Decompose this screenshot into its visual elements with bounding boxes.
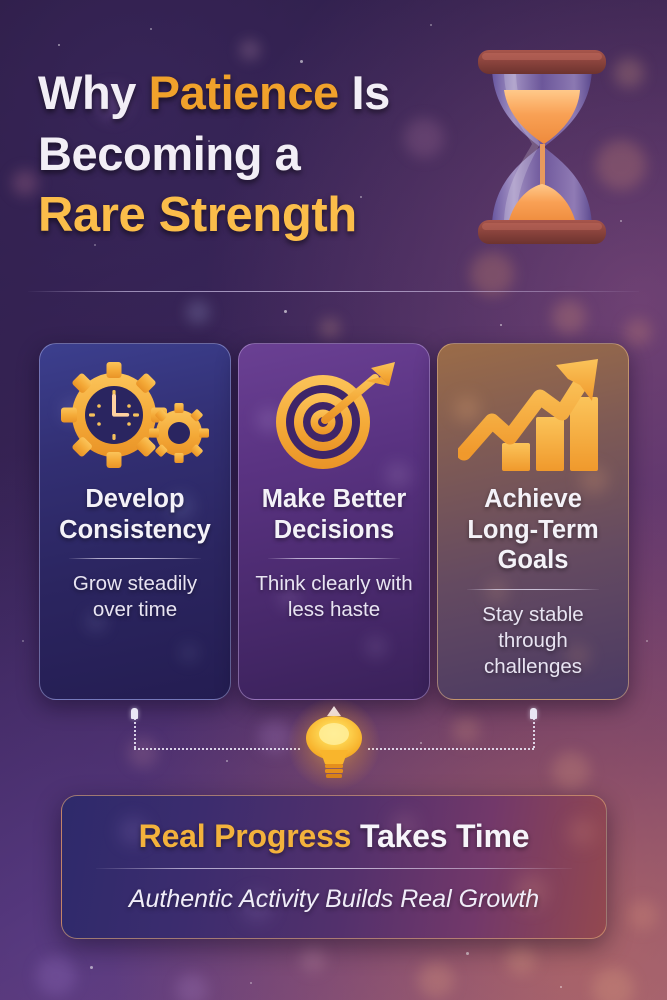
banner-title-highlight: Real Progress: [139, 818, 352, 854]
card-make-better-decisions[interactable]: Make Better Decisions Think clearly with…: [238, 343, 430, 700]
connector-line-left-vertical: [134, 718, 136, 748]
connector-line-right-horizontal: [368, 748, 534, 750]
card-achieve-long-term-goals[interactable]: Achieve Long-Term Goals Stay stable thro…: [437, 343, 629, 700]
card-title: Achieve Long-Term Goals: [450, 484, 616, 576]
title-line-1: Why Patience Is: [38, 62, 448, 123]
connector-line-left-horizontal: [134, 748, 300, 750]
lightbulb-icon: [304, 714, 364, 780]
card-divider: [467, 589, 599, 590]
feature-cards: Develop Consistency Grow steadily over t…: [0, 343, 667, 703]
title-word-patience: Patience: [149, 66, 339, 119]
summary-banner[interactable]: Real Progress Takes Time Authentic Activ…: [61, 795, 607, 939]
gear-clock-icon: [52, 352, 218, 484]
card-description: Think clearly with less haste: [251, 571, 417, 623]
banner-subtitle: Authentic Activity Builds Real Growth: [62, 885, 606, 914]
target-arrow-icon: [251, 352, 417, 484]
header: Why Patience Is Becoming a Rare Strength: [0, 0, 667, 292]
banner-title-rest: Takes Time: [351, 818, 529, 854]
title-line-3: Rare Strength: [38, 184, 448, 248]
banner-title: Real Progress Takes Time: [62, 796, 606, 855]
banner-divider: [96, 868, 572, 869]
hourglass-icon: [468, 38, 616, 256]
card-description: Stay stable through challenges: [450, 602, 616, 681]
connector-line-right-vertical: [533, 718, 535, 748]
title-word-why: Why: [38, 66, 149, 119]
header-divider: [28, 291, 639, 292]
title-line-2: Becoming a: [38, 123, 448, 184]
card-divider: [69, 558, 201, 559]
title-word-is: Is: [339, 66, 390, 119]
connector-group: [0, 700, 667, 800]
card-divider: [268, 558, 400, 559]
card-title: Make Better Decisions: [251, 484, 417, 545]
card-develop-consistency[interactable]: Develop Consistency Grow steadily over t…: [39, 343, 231, 700]
infographic-poster: Why Patience Is Becoming a Rare Strength: [0, 0, 667, 1000]
card-description: Grow steadily over time: [52, 571, 218, 623]
page-title: Why Patience Is Becoming a Rare Strength: [38, 62, 448, 248]
card-title: Develop Consistency: [52, 484, 218, 545]
growth-chart-icon: [450, 352, 616, 484]
